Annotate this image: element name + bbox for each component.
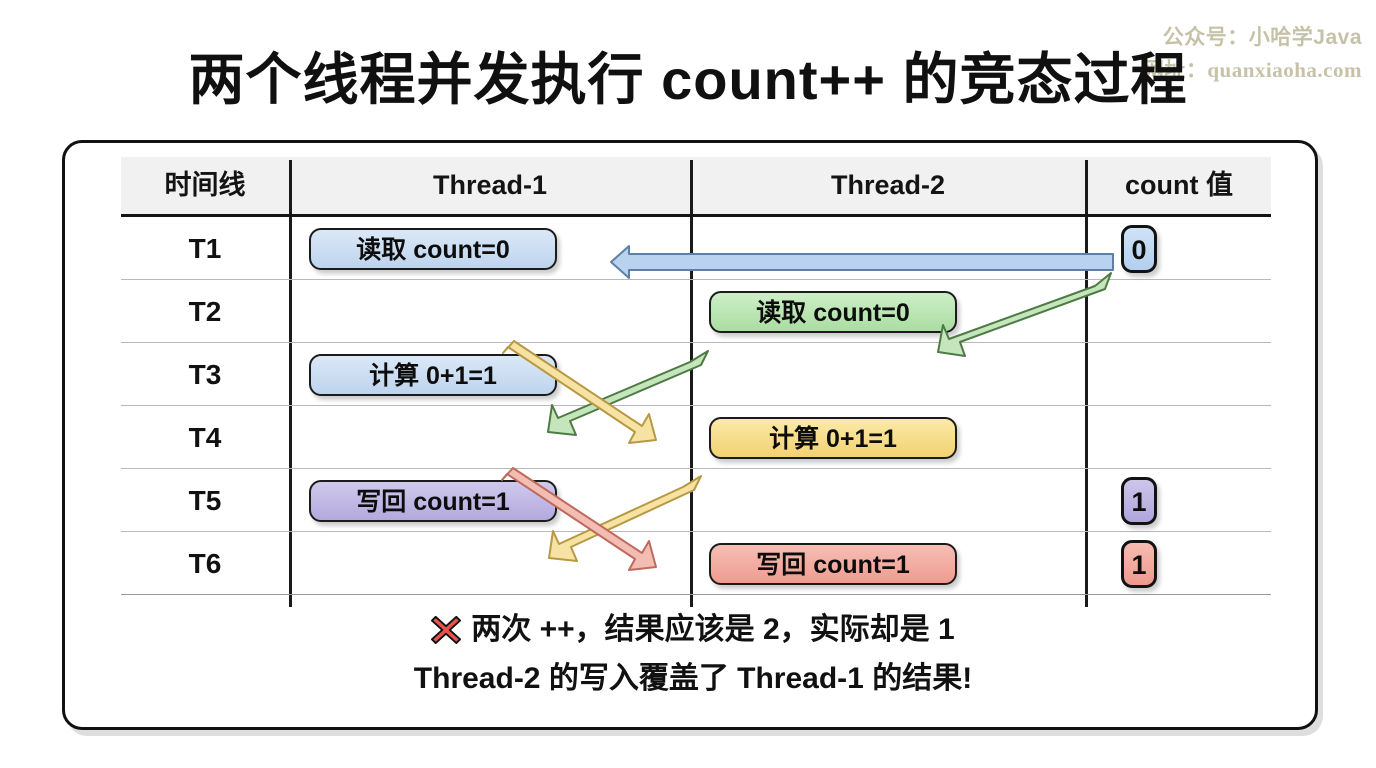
table-row: T1	[121, 217, 1271, 280]
header-divider-1	[289, 160, 292, 214]
table-row: T5	[121, 469, 1271, 532]
cell-timeline: T5	[121, 469, 289, 532]
header-divider-3	[1085, 160, 1088, 214]
table-row: T6	[121, 532, 1271, 595]
table-row: T4	[121, 406, 1271, 469]
chip-t2-thread2[interactable]: 读取 count=0	[709, 291, 957, 333]
cell-timeline: T4	[121, 406, 289, 469]
table-row: T3	[121, 343, 1271, 406]
header-divider-2	[690, 160, 693, 214]
table-header-row: 时间线 Thread-1 Thread-2 count 值	[121, 157, 1271, 217]
chip-t6-thread2[interactable]: 写回 count=1	[709, 543, 957, 585]
chip-t3-thread1[interactable]: 计算 0+1=1	[309, 354, 557, 396]
chip-t1-thread1[interactable]: 读取 count=0	[309, 228, 557, 270]
badge-count-t1: 0	[1121, 225, 1157, 273]
timeline-card: 时间线 Thread-1 Thread-2 count 值 T1 T2	[62, 140, 1318, 730]
cross-mark-icon	[431, 613, 461, 657]
table-body: T1 T2 T3 T4 T5 T6 读取 count=0	[121, 217, 1271, 607]
header-thread-1: Thread-1	[291, 157, 689, 214]
conclusion-block: 两次 ++，结果应该是 2，实际却是 1 Thread-2 的写入覆盖了 Thr…	[65, 608, 1321, 701]
table-row: T2	[121, 280, 1271, 343]
conclusion-line-1: 两次 ++，结果应该是 2，实际却是 1	[471, 613, 954, 646]
page-title: 两个线程并发执行 count++ 的竞态过程	[0, 48, 1376, 112]
conclusion-line-2: Thread-2 的写入覆盖了 Thread-1 的结果!	[65, 657, 1321, 701]
badge-count-t6: 1	[1121, 540, 1157, 588]
header-count: count 值	[1087, 157, 1271, 214]
header-timeline: 时间线	[121, 157, 289, 214]
diagram-canvas: 公众号：小哈学Java 网址：quanxiaoha.com 两个线程并发执行 c…	[0, 0, 1376, 768]
cell-timeline: T3	[121, 343, 289, 406]
cell-timeline: T6	[121, 532, 289, 595]
cell-timeline: T1	[121, 217, 289, 280]
header-thread-2: Thread-2	[692, 157, 1084, 214]
race-condition-table: 时间线 Thread-1 Thread-2 count 值 T1 T2	[121, 157, 1271, 607]
chip-t4-thread2[interactable]: 计算 0+1=1	[709, 417, 957, 459]
badge-count-t5: 1	[1121, 477, 1157, 525]
conclusion-line-1-wrapper: 两次 ++，结果应该是 2，实际却是 1	[65, 608, 1321, 657]
chip-t5-thread1[interactable]: 写回 count=1	[309, 480, 557, 522]
cell-timeline: T2	[121, 280, 289, 343]
